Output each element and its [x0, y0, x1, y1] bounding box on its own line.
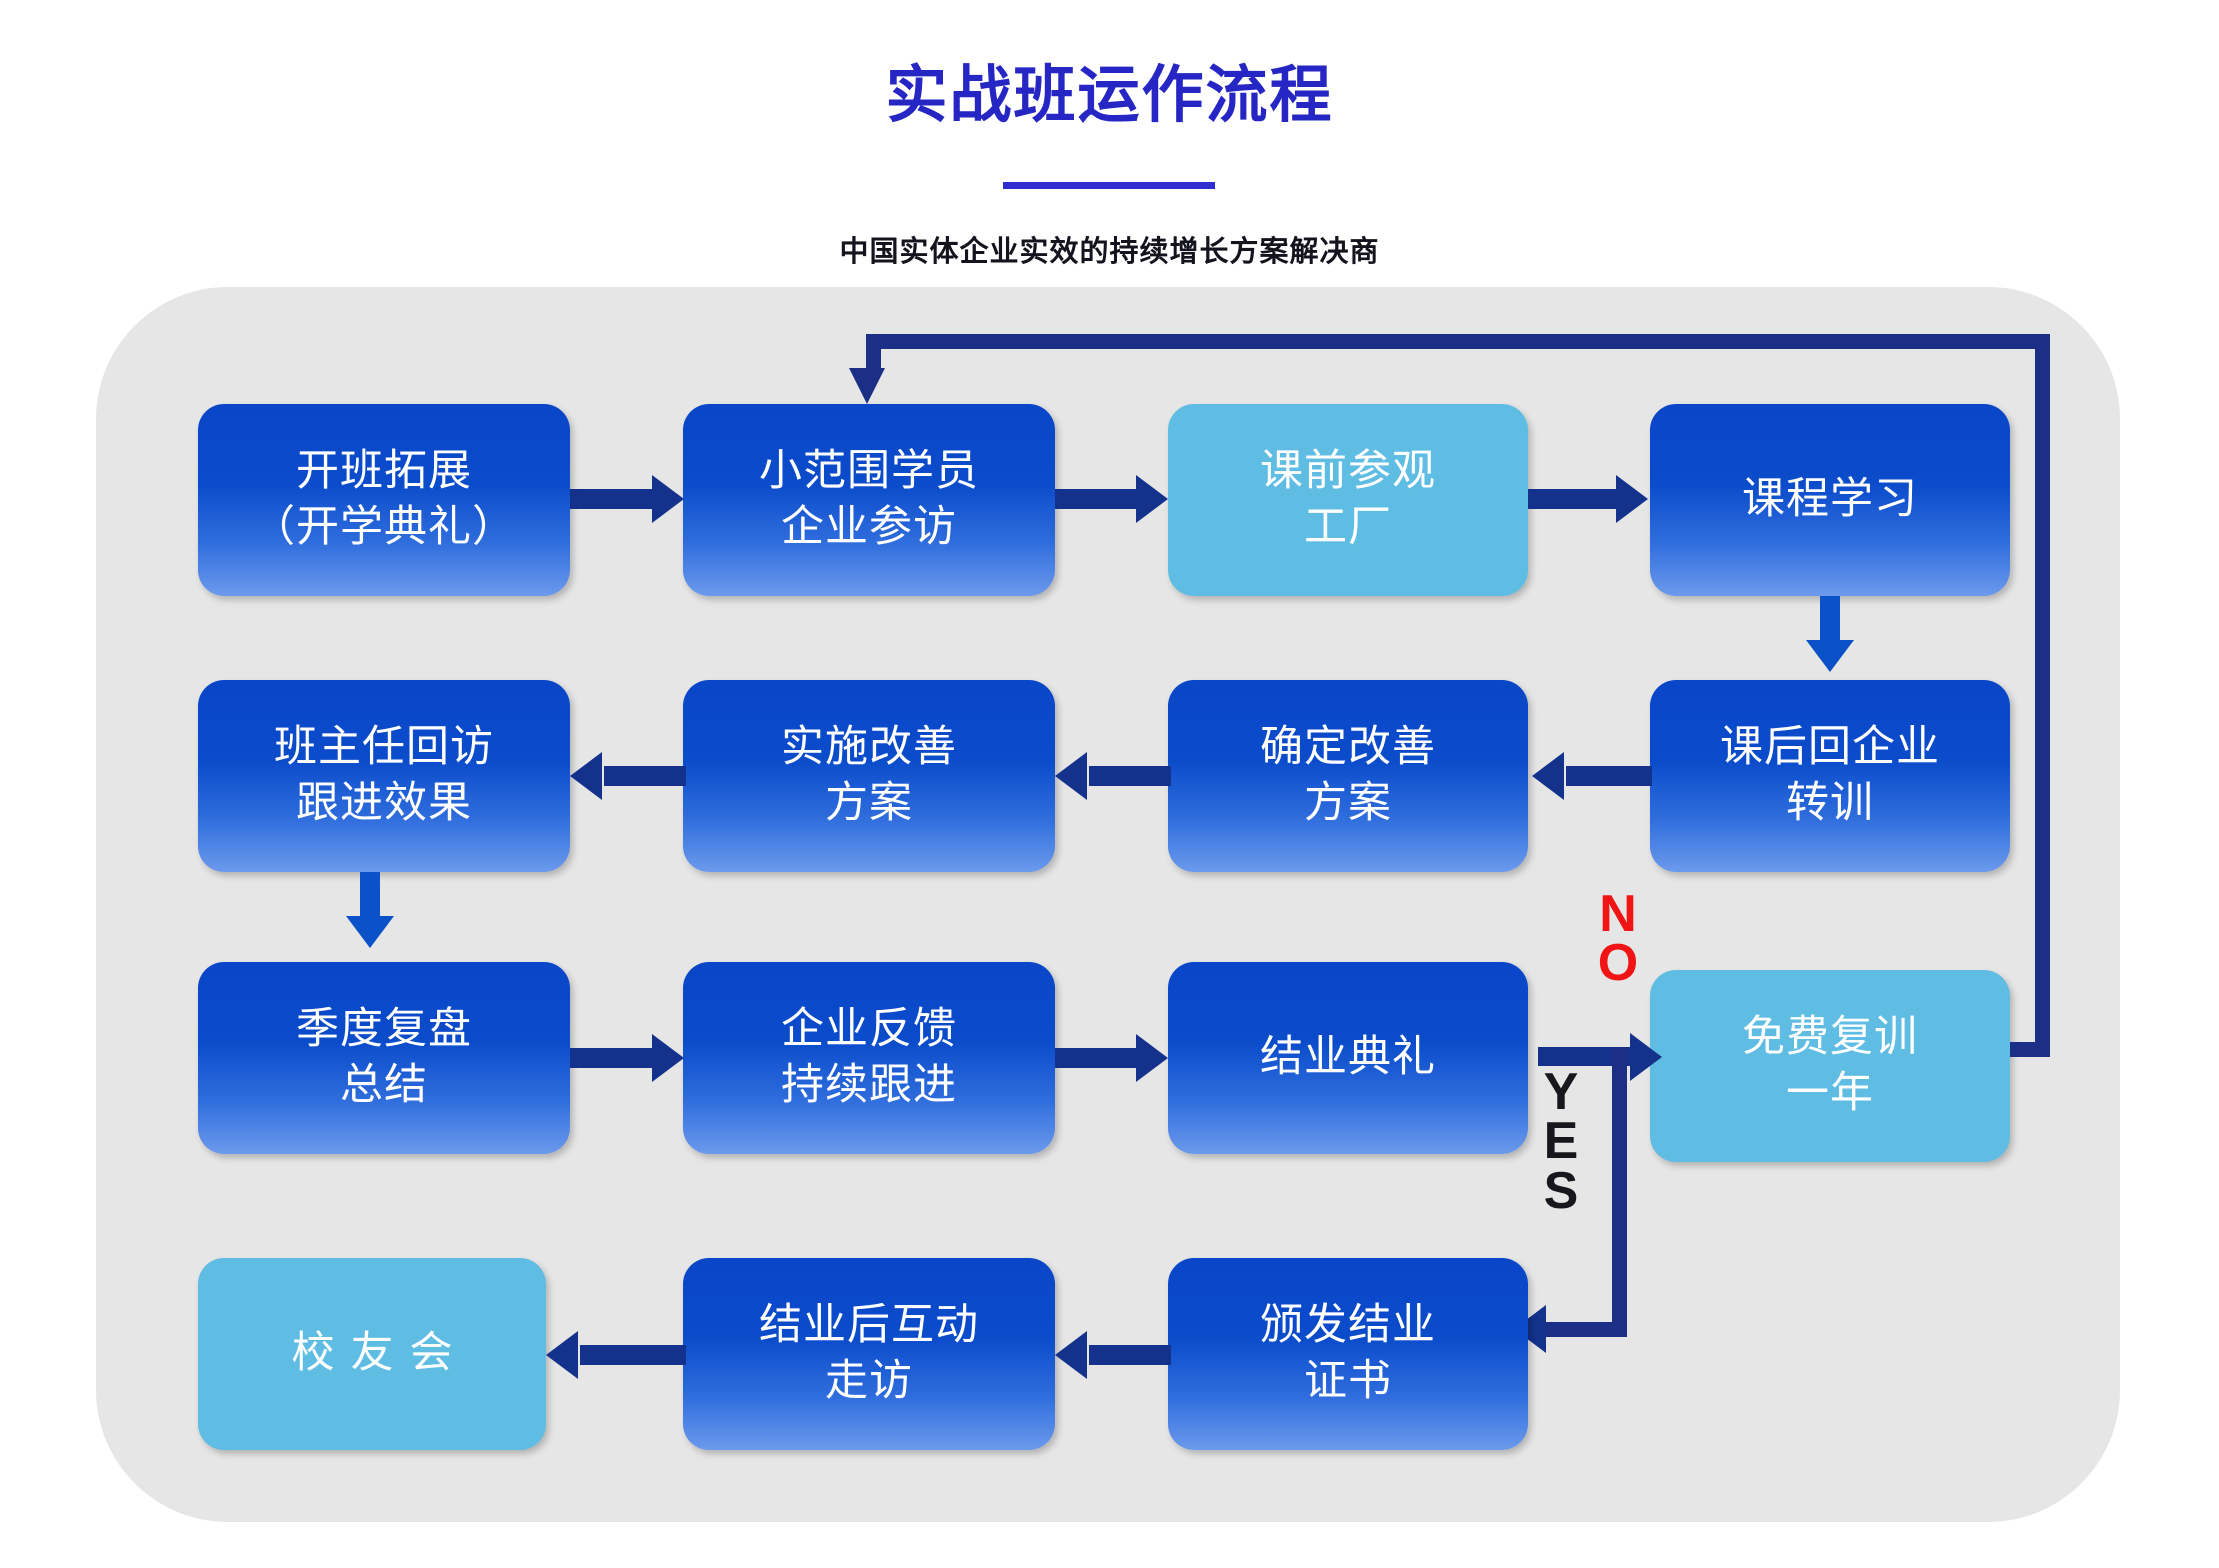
node-line: 方案: [825, 776, 913, 832]
flow-node-小范围学员企业参访[interactable]: 小范围学员 企业参访: [683, 404, 1055, 596]
node-line: 跟进效果: [296, 776, 472, 832]
flow-node-结业典礼[interactable]: 结业典礼: [1168, 962, 1528, 1154]
node-line: 结业典礼: [1260, 1030, 1436, 1086]
flow-node-颁发结业证书[interactable]: 颁发结业 证书: [1168, 1258, 1528, 1450]
page-title: 实战班运作流程: [0, 62, 2219, 130]
node-line: 结业后互动: [759, 1298, 979, 1354]
node-line: 校友会: [276, 1326, 469, 1382]
node-line: 课前参观: [1260, 444, 1436, 500]
node-line: 课程学习: [1742, 472, 1918, 528]
flowchart-canvas: 实战班运作流程 中国实体企业实效的持续增长方案解决商 开班拓展 （开学典礼） 小…: [0, 0, 2219, 1568]
flow-node-季度复盘总结[interactable]: 季度复盘 总结: [198, 962, 570, 1154]
flow-node-班主任回访跟进效果[interactable]: 班主任回访 跟进效果: [198, 680, 570, 872]
node-line: 方案: [1304, 776, 1392, 832]
flow-node-企业反馈持续跟进[interactable]: 企业反馈 持续跟进: [683, 962, 1055, 1154]
flow-node-课程学习[interactable]: 课程学习: [1650, 404, 2010, 596]
node-line: 企业参访: [781, 500, 957, 556]
flow-node-实施改善方案[interactable]: 实施改善 方案: [683, 680, 1055, 872]
branch-label-yes: Y E S: [1535, 1068, 1587, 1216]
node-line: 小范围学员: [759, 444, 979, 500]
flow-node-结业后互动走访[interactable]: 结业后互动 走访: [683, 1258, 1055, 1450]
node-line: 证书: [1304, 1354, 1392, 1410]
node-line: 工厂: [1304, 500, 1392, 556]
flow-node-课后回企业转训[interactable]: 课后回企业 转训: [1650, 680, 2010, 872]
node-line: 转训: [1786, 776, 1874, 832]
node-line: 课后回企业: [1720, 720, 1940, 776]
node-line: 持续跟进: [781, 1058, 957, 1114]
node-line: 免费复训: [1742, 1010, 1918, 1066]
node-line: （开学典礼）: [252, 500, 516, 556]
node-line: 企业反馈: [781, 1002, 957, 1058]
flow-node-免费复训一年[interactable]: 免费复训 一年: [1650, 970, 2010, 1162]
branch-label-yes-char-s: S: [1535, 1167, 1587, 1216]
title-divider: [1003, 182, 1215, 189]
node-line: 总结: [340, 1058, 428, 1114]
branch-label-yes-char-e: E: [1535, 1117, 1587, 1166]
node-line: 走访: [825, 1354, 913, 1410]
flow-node-课前参观工厂[interactable]: 课前参观 工厂: [1168, 404, 1528, 596]
branch-label-no-char-o: O: [1590, 939, 1646, 988]
branch-label-no-char-n: N: [1590, 890, 1646, 939]
flow-node-开班拓展[interactable]: 开班拓展 （开学典礼）: [198, 404, 570, 596]
node-line: 季度复盘: [296, 1002, 472, 1058]
branch-label-yes-char-y: Y: [1535, 1068, 1587, 1117]
page-subtitle: 中国实体企业实效的持续增长方案解决商: [0, 228, 2219, 270]
branch-label-no: N O: [1590, 890, 1646, 989]
node-line: 开班拓展: [296, 444, 472, 500]
node-line: 一年: [1786, 1066, 1874, 1122]
flow-node-确定改善方案[interactable]: 确定改善 方案: [1168, 680, 1528, 872]
node-line: 确定改善: [1260, 720, 1436, 776]
node-line: 班主任回访: [274, 720, 494, 776]
flow-node-校友会[interactable]: 校友会: [198, 1258, 546, 1450]
node-line: 颁发结业: [1260, 1298, 1436, 1354]
node-line: 实施改善: [781, 720, 957, 776]
